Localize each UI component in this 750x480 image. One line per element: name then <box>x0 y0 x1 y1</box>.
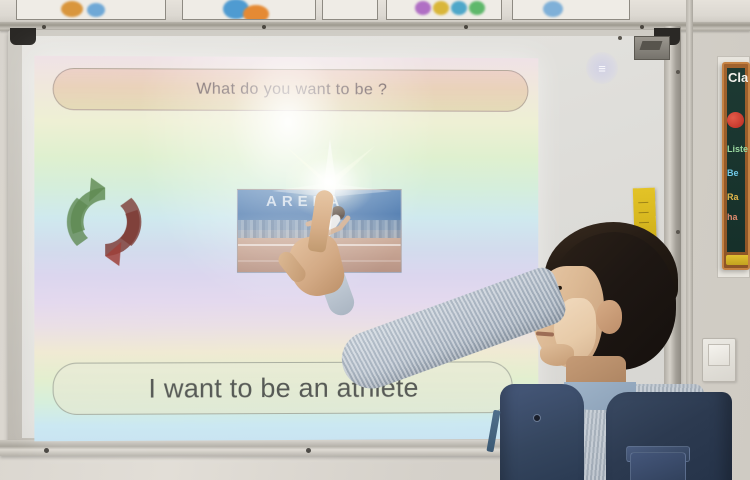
board-screw <box>618 36 622 40</box>
rail-screw <box>640 25 644 29</box>
rules-line-3: Ra <box>727 192 739 202</box>
wall-poster-1 <box>16 0 166 20</box>
projected-slide: What do you want to be ? ARENA <box>34 56 538 442</box>
light-switch-rocker[interactable] <box>708 344 730 366</box>
slide-question-box: What do you want to be ? <box>53 68 529 112</box>
classroom-scene: ≡ What do you want to be ? ARENA <box>0 0 750 480</box>
vest-pocket <box>630 452 686 480</box>
rail-screw <box>42 25 46 29</box>
slide-question-text: What do you want to be ? <box>196 81 387 100</box>
rules-poster-shelf <box>726 255 750 265</box>
lanyard-strap <box>486 410 500 453</box>
vest-button <box>533 414 541 422</box>
rules-line-1: Liste <box>727 144 748 154</box>
whiteboard-corner-top-left <box>10 28 36 45</box>
wall-poster-5 <box>512 0 630 20</box>
ear <box>596 300 622 334</box>
rail-screw <box>464 25 468 29</box>
wall-poster-2 <box>182 0 316 20</box>
circular-refresh-arrows-icon <box>55 172 156 273</box>
rules-line-2: Be <box>727 168 739 178</box>
denim-vest-left-panel <box>500 384 584 480</box>
tray-screw <box>306 448 311 453</box>
board-screw <box>676 70 680 74</box>
projector-watermark-icon: ≡ <box>586 52 618 84</box>
rules-title: Cla <box>728 70 748 85</box>
rail-screw <box>262 25 266 29</box>
wall-poster-3 <box>322 0 378 20</box>
rules-chalkboard <box>727 68 745 252</box>
student-pointing <box>470 170 750 480</box>
light-switch-plate[interactable] <box>702 338 736 382</box>
classroom-rules-poster: Cla Liste Be Ra ha <box>722 62 750 270</box>
slide-answer-box: I want to be an athlete <box>53 361 513 415</box>
wall-poster-4 <box>386 0 502 20</box>
rules-line-4: ha <box>727 212 738 222</box>
apple-icon <box>727 112 744 128</box>
tray-screw <box>44 448 49 453</box>
bracket-clip <box>640 41 663 50</box>
